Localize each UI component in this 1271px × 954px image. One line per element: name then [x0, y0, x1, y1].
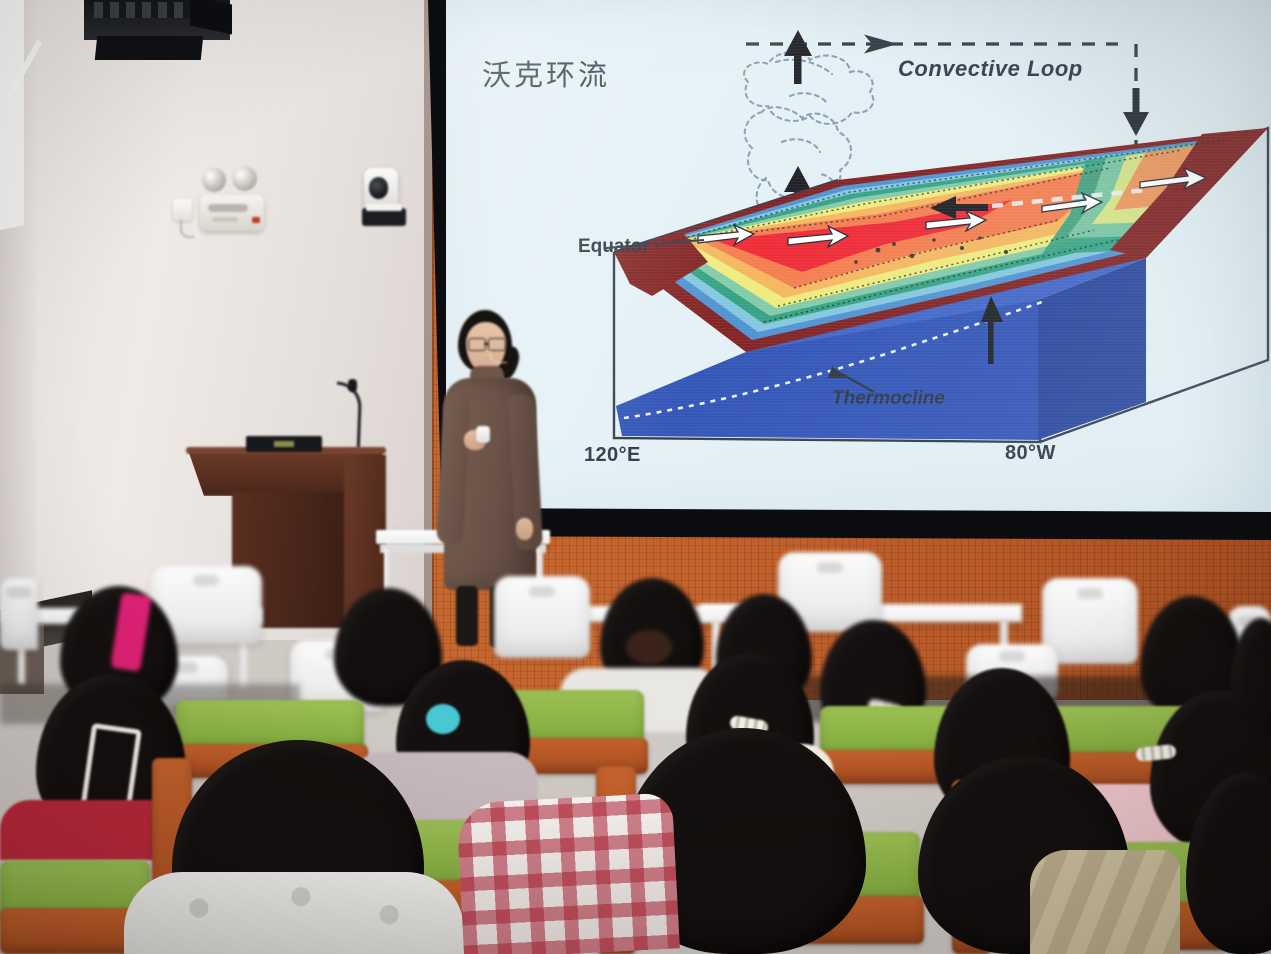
ceiling-light-strip: [0, 0, 24, 230]
lectern-control-monitor[interactable]: [246, 436, 322, 452]
presenter-hand-right: [516, 518, 533, 540]
ptz-camera-base: [366, 204, 402, 211]
white-chair: [0, 578, 38, 650]
eyeglasses: [468, 338, 504, 349]
axis-label-east: 80°W: [1005, 442, 1056, 465]
white-chair: [1042, 578, 1138, 664]
lecture-hall-photo: 沃克环流 Convective Loop Equator Thermocline…: [0, 0, 1271, 954]
emergency-light: [200, 195, 264, 231]
emergency-light-lamp: [202, 168, 226, 192]
hair-tie-teal: [426, 704, 460, 734]
audience-clothing: [124, 872, 464, 954]
presentation-clicker[interactable]: [476, 426, 490, 443]
audience-clothing-red-check: [456, 792, 680, 954]
spotlight-barndoor: [95, 36, 204, 60]
audience-member: [620, 730, 626, 736]
axis-label-west: 120°E: [584, 444, 641, 467]
hair-bun: [626, 630, 672, 664]
convective-loop-label: Convective Loop: [898, 56, 1083, 82]
audience-member: [1186, 772, 1271, 954]
presenter-leg: [456, 586, 478, 646]
ascending-branch-arrow-upper: [784, 30, 812, 84]
outlet-cable: [180, 220, 194, 238]
descending-branch-arrow: [1123, 88, 1149, 136]
thermocline-label: Thermocline: [832, 388, 945, 410]
audience-clothing-khaki: [1030, 850, 1180, 954]
headset-microphone: [490, 350, 507, 363]
microphone-capsule: [348, 379, 357, 392]
white-chair: [494, 576, 590, 658]
projection-screen[interactable]: 沃克环流 Convective Loop Equator Thermocline…: [446, 0, 1271, 518]
emergency-light-lamp: [232, 166, 257, 191]
slide-title: 沃克环流: [482, 52, 610, 94]
equator-label: Equator: [578, 236, 650, 258]
power-outlet[interactable]: [173, 199, 192, 221]
